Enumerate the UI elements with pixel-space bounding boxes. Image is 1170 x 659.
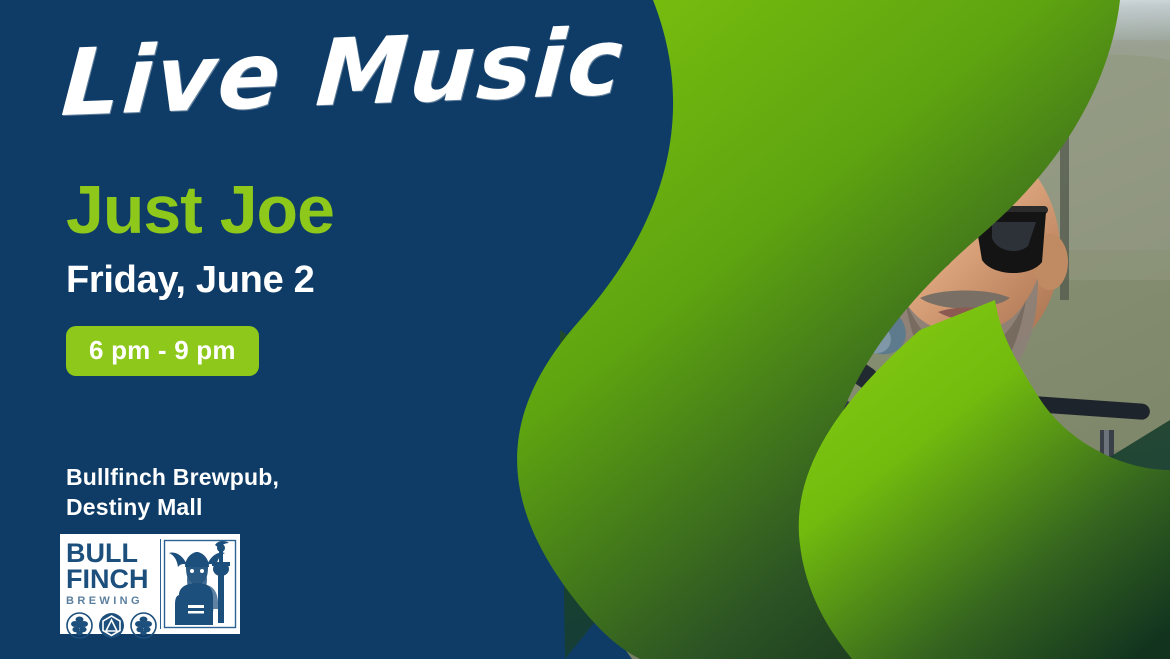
bullfinch-brewing-logo: BULL FINCH BREWING [60, 534, 240, 634]
event-flyer: Live Music Just Joe Friday, June 2 6 pm … [0, 0, 1170, 659]
logo-badge-row [66, 612, 160, 639]
event-date: Friday, June 2 [66, 261, 315, 299]
hex-emblem-icon [98, 612, 125, 639]
logo-mascot-panel [160, 539, 234, 629]
viking-with-mug-and-sword-icon [163, 539, 239, 629]
venue-line-1: Bullfinch Brewpub, [66, 464, 279, 490]
logo-word-finch: FINCH [66, 566, 160, 592]
venue-block: Bullfinch Brewpub, Destiny Mall [66, 462, 279, 523]
headline-live-music: Live Music [59, 13, 665, 133]
artist-name: Just Joe [66, 176, 334, 244]
venue-line-2: Destiny Mall [66, 494, 203, 520]
logo-tagline: BREWING [66, 596, 160, 607]
hop-cone-icon [130, 612, 157, 639]
event-time-badge: 6 pm - 9 pm [66, 326, 259, 376]
logo-wordmark: BULL FINCH BREWING [66, 539, 160, 629]
logo-word-bull: BULL [66, 540, 160, 566]
hop-cone-icon [66, 612, 93, 639]
